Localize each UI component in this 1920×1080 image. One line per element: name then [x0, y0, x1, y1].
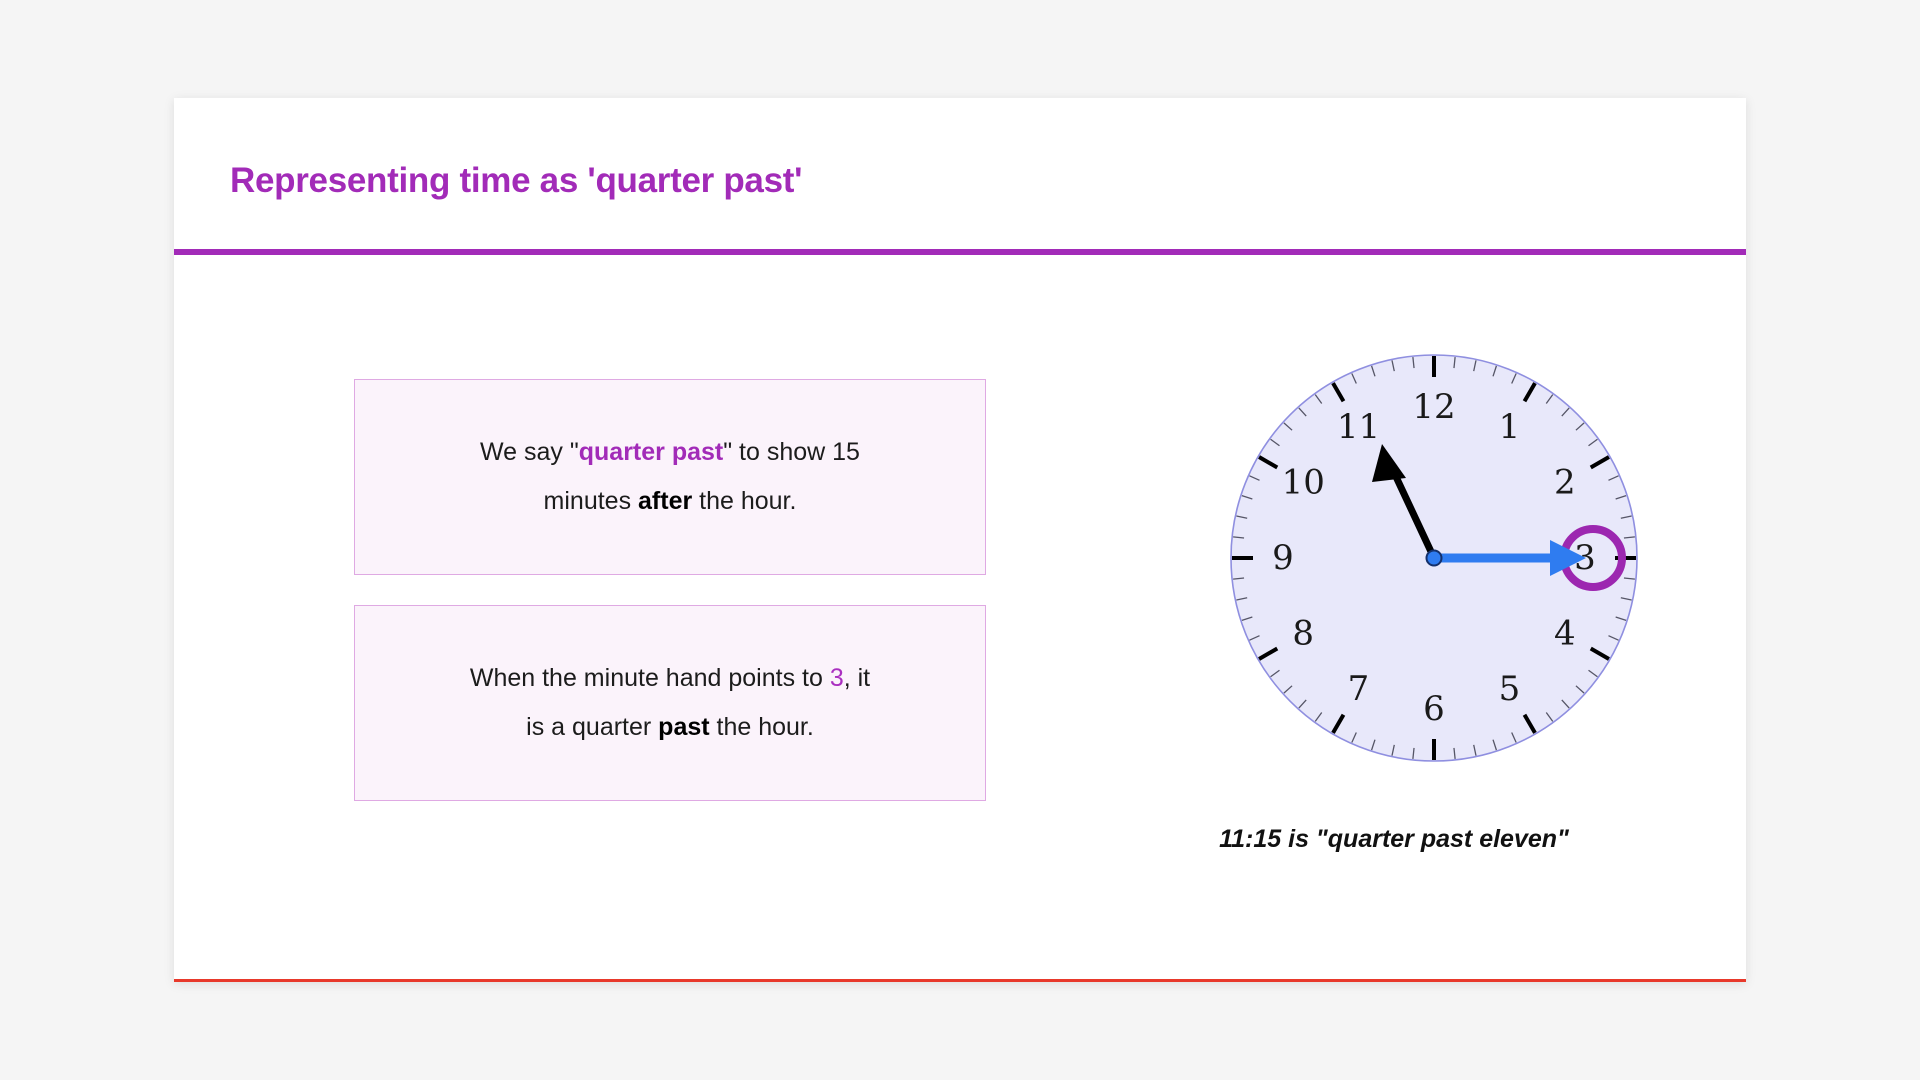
fact-box-quarter-past-definition: We say "quarter past" to show 15 minutes…	[354, 379, 986, 575]
clock-numeral-1: 1	[1499, 407, 1521, 447]
fact-2-bold-past: past	[658, 713, 709, 741]
fact-1-highlight-quarter-past: quarter past	[579, 438, 723, 466]
clock-numeral-11: 11	[1337, 407, 1380, 447]
clock-numeral-4: 4	[1554, 614, 1576, 654]
clock-center-hub	[1427, 551, 1442, 566]
fact-box-2-line-2: is a quarter past the hour.	[526, 703, 814, 752]
clock-numeral-12: 12	[1412, 387, 1455, 427]
fact-box-2-line-1: When the minute hand points to 3, it	[470, 654, 870, 703]
fact-1-line-2-part-1: minutes	[544, 487, 638, 515]
fact-2-line-1-part-2: , it	[844, 664, 870, 692]
slide-canvas: Representing time as 'quarter past' We s…	[0, 0, 1920, 1080]
fact-1-line-1-part-1: We say "	[480, 438, 579, 466]
fact-2-line-2-part-1: is a quarter	[526, 713, 658, 741]
clock-figure: 123456789101112 11:15 is "quarter past e…	[1134, 338, 1654, 898]
fact-2-highlight-three: 3	[830, 664, 844, 692]
fact-1-bold-after: after	[638, 487, 692, 515]
analog-clock-icon: 123456789101112	[1214, 338, 1654, 778]
fact-box-1-line-2: minutes after the hour.	[544, 477, 797, 526]
card-bottom-accent	[174, 979, 1746, 982]
slide-card: Representing time as 'quarter past' We s…	[174, 98, 1746, 982]
fact-1-line-1-part-2: " to show 15	[723, 438, 860, 466]
fact-2-line-1-part-1: When the minute hand points to	[470, 664, 830, 692]
clock-numeral-10: 10	[1282, 463, 1325, 503]
page-title: Representing time as 'quarter past'	[230, 161, 802, 201]
clock-numeral-9: 9	[1272, 538, 1294, 578]
clock-numeral-7: 7	[1348, 669, 1370, 709]
clock-numeral-6: 6	[1423, 689, 1445, 729]
clock-numeral-2: 2	[1554, 463, 1576, 503]
fact-2-line-2-part-2: the hour.	[710, 713, 814, 741]
clock-numeral-8: 8	[1292, 614, 1314, 654]
fact-1-line-2-part-2: the hour.	[692, 487, 796, 515]
title-divider	[174, 249, 1746, 255]
clock-caption: 11:15 is "quarter past eleven"	[1134, 825, 1654, 854]
fact-box-minute-hand-rule: When the minute hand points to 3, it is …	[354, 605, 986, 801]
fact-box-1-line-1: We say "quarter past" to show 15	[480, 428, 860, 477]
clock-numeral-5: 5	[1499, 669, 1521, 709]
